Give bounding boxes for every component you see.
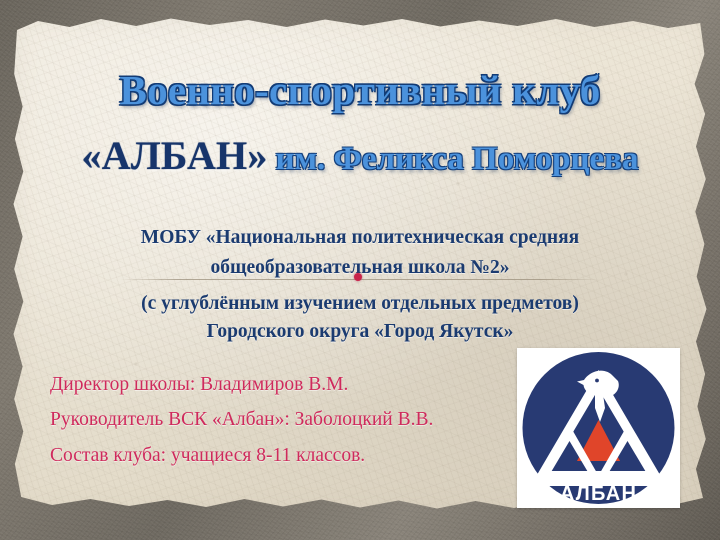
emblem-caption-text: АЛБАН: [560, 483, 637, 505]
school-name-line-3: (с углублённым изучением отдельных предм…: [0, 294, 720, 314]
school-name-line-1: МОБУ «Национальная политехническая средн…: [0, 228, 720, 248]
slide-content: Военно-спортивный клуб «АЛБАН»им. Феликс…: [0, 0, 720, 540]
slide-title-line-1: Военно-спортивный клуб: [0, 70, 720, 111]
alban-emblem-icon: АЛБАН: [517, 348, 680, 508]
detail-line-leader: Руководитель ВСК «Албан»: Заболоцкий В.В…: [50, 410, 433, 430]
school-name-line-4: Городского округа «Город Якутск»: [0, 322, 720, 342]
presentation-slide: Военно-спортивный клуб «АЛБАН»им. Феликс…: [0, 0, 720, 540]
slide-title-line-2: «АЛБАН»им. Феликса Поморцева: [0, 136, 720, 176]
detail-line-director: Директор школы: Владимиров В.М.: [50, 375, 348, 395]
divider-dot-icon: [354, 273, 362, 281]
club-name-text: «АЛБАН»: [82, 133, 268, 178]
club-namesake-text: им. Феликса Поморцева: [276, 141, 639, 177]
detail-line-membership: Состав клуба: учащиеся 8-11 классов.: [50, 446, 365, 466]
